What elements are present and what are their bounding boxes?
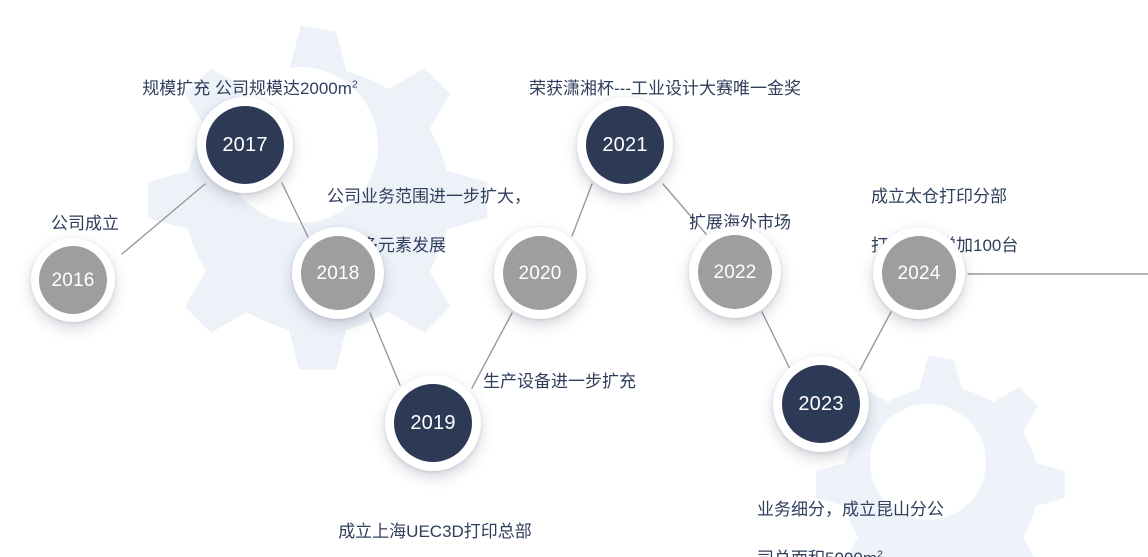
- connector-2018-2019: [370, 313, 400, 385]
- node-2018-year: 2018: [301, 236, 375, 310]
- node-2017[interactable]: 2017: [197, 97, 293, 193]
- connector-2022-2023: [762, 312, 790, 369]
- node-2019-year: 2019: [394, 384, 472, 462]
- caption-2023-line-1: 业务细分，成立昆山分公: [757, 498, 997, 523]
- node-2019[interactable]: 2019: [385, 375, 481, 471]
- node-2021-year: 2021: [586, 106, 664, 184]
- caption-2017: 规模扩充 公司规模达2000m2: [110, 52, 390, 101]
- node-2018[interactable]: 2018: [292, 227, 384, 319]
- node-2016-year: 2016: [39, 246, 107, 314]
- node-2016[interactable]: 2016: [31, 238, 115, 322]
- caption-2023-text-2: 司总面积5000m2: [757, 549, 883, 557]
- node-2023[interactable]: 2023: [773, 356, 869, 452]
- caption-2018-line-1: 公司业务范围进一步扩大，: [327, 185, 577, 210]
- caption-2020: 生产设备进一步扩充: [483, 345, 683, 394]
- caption-2017-line-1: 规模扩充 公司规模达2000m2: [142, 79, 358, 98]
- caption-2017-text: 规模扩充 公司规模达2000m2: [142, 79, 358, 98]
- node-2020-year: 2020: [503, 236, 577, 310]
- node-2022-year: 2022: [698, 235, 772, 309]
- node-2024-year: 2024: [882, 236, 956, 310]
- connector-2017-2018: [282, 183, 308, 237]
- node-2017-year: 2017: [206, 106, 284, 184]
- caption-2019: 成立上海UEC3D打印总部: [300, 495, 570, 544]
- node-2024[interactable]: 2024: [873, 227, 965, 319]
- superscript-two: 2: [877, 548, 883, 557]
- caption-2020-line-1: 生产设备进一步扩充: [483, 372, 636, 391]
- node-2023-year: 2023: [782, 365, 860, 443]
- timeline-infographic: 公司成立 规模扩充 公司规模达2000m2 公司业务范围进一步扩大， 公司多元素…: [0, 0, 1148, 557]
- caption-2021-line-1: 荣获潇湘杯---工业设计大赛唯一金奖: [529, 79, 801, 98]
- caption-2016-line-1: 公司成立: [51, 214, 119, 233]
- node-2021[interactable]: 2021: [577, 97, 673, 193]
- caption-2016: 公司成立: [20, 187, 150, 236]
- connector-2023-2024: [860, 312, 891, 370]
- node-2020[interactable]: 2020: [494, 227, 586, 319]
- caption-2023-line-2: 司总面积5000m2: [757, 547, 997, 557]
- node-2022[interactable]: 2022: [689, 226, 781, 318]
- caption-2023: 业务细分，成立昆山分公 司总面积5000m2: [757, 473, 997, 557]
- superscript-two: 2: [352, 78, 358, 90]
- caption-2019-line-1: 成立上海UEC3D打印总部: [338, 522, 532, 541]
- caption-2024-line-1: 成立太仓打印分部: [871, 185, 1101, 210]
- caption-2021: 荣获潇湘杯---工业设计大赛唯一金奖: [485, 52, 845, 101]
